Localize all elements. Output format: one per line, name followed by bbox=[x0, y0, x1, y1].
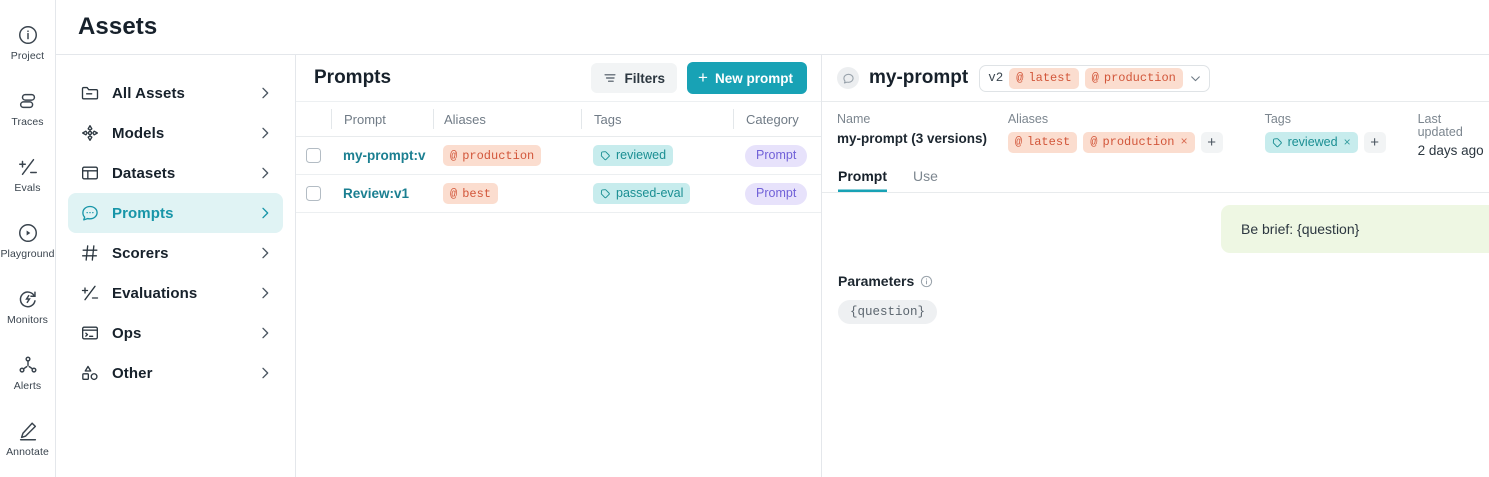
rail-item-traces[interactable]: Traces bbox=[0, 76, 56, 142]
list-toolbar: Prompts Filters + New prompt bbox=[296, 55, 821, 102]
prompt-message-area: Be brief: {question} bbox=[822, 193, 1489, 273]
remove-tag-icon[interactable]: × bbox=[1344, 136, 1351, 148]
filters-label: Filters bbox=[625, 71, 666, 86]
tab-prompt[interactable]: Prompt bbox=[838, 168, 887, 192]
nav-item-label: Ops bbox=[112, 325, 257, 342]
rail-item-monitors[interactable]: Monitors bbox=[0, 274, 56, 340]
alias-chip[interactable]: @ production × bbox=[1083, 132, 1194, 153]
rail-item-label: Annotate bbox=[6, 447, 49, 458]
rail-item-alerts[interactable]: Alerts bbox=[0, 340, 56, 406]
at-symbol-icon: @ bbox=[1015, 136, 1022, 148]
meta-tags-block: Tags reviewed × + bbox=[1265, 113, 1418, 153]
table-row[interactable]: my-prompt:v @ production reviewed bbox=[296, 137, 821, 175]
prompt-avatar-chat-icon bbox=[837, 67, 859, 89]
page-title: Assets bbox=[78, 13, 157, 41]
meta-name-block: Name my-prompt (3 versions) bbox=[837, 113, 1008, 145]
add-tag-button[interactable]: + bbox=[1364, 132, 1386, 153]
plus-minus-icon bbox=[80, 283, 100, 303]
nav-item-all-assets[interactable]: All Assets bbox=[68, 73, 283, 113]
cell-tags: passed-eval bbox=[581, 183, 733, 204]
version-alias-label: latest bbox=[1028, 72, 1071, 84]
cell-tags: reviewed bbox=[581, 145, 733, 166]
at-symbol-icon: @ bbox=[1092, 72, 1099, 84]
at-symbol-icon: @ bbox=[450, 150, 457, 162]
tag-chip-line: reviewed × + bbox=[1265, 132, 1418, 153]
column-header-aliases[interactable]: Aliases bbox=[433, 109, 581, 129]
prompt-message-bubble: Be brief: {question} bbox=[1221, 205, 1489, 253]
model-node-icon bbox=[80, 123, 100, 143]
nav-item-label: Evaluations bbox=[112, 285, 257, 302]
chevron-right-icon bbox=[257, 365, 273, 381]
plus-icon: + bbox=[698, 69, 708, 86]
chevron-right-icon bbox=[257, 245, 273, 261]
version-number: v2 bbox=[988, 71, 1003, 85]
version-alias-chip: @ latest bbox=[1009, 68, 1078, 89]
primary-nav-rail: Project Traces Evals Playground Monitors bbox=[0, 0, 56, 477]
nav-item-label: All Assets bbox=[112, 85, 257, 102]
pencil-highlight-icon bbox=[17, 420, 39, 442]
table-icon bbox=[80, 163, 100, 183]
chevron-right-icon bbox=[257, 325, 273, 341]
detail-header: my-prompt v2 @ latest @ production bbox=[822, 55, 1489, 102]
play-circle-icon bbox=[17, 222, 39, 244]
layers-icon bbox=[17, 90, 39, 112]
meta-label-tags: Tags bbox=[1265, 113, 1418, 126]
remove-alias-icon[interactable]: × bbox=[1180, 136, 1187, 148]
rail-item-label: Project bbox=[11, 51, 44, 62]
parameters-header: Parameters bbox=[838, 273, 1489, 289]
alias-chip[interactable]: @ latest bbox=[1008, 132, 1077, 153]
chevron-right-icon bbox=[257, 165, 273, 181]
nav-item-other[interactable]: Other bbox=[68, 353, 283, 393]
alias-chip-line: @ latest @ production × + bbox=[1008, 132, 1265, 153]
detail-title: my-prompt bbox=[869, 67, 968, 89]
tag-chip-label: passed-eval bbox=[616, 187, 683, 200]
prompts-list-column: Prompts Filters + New prompt Prompt Alia… bbox=[296, 55, 822, 477]
alert-node-icon bbox=[17, 354, 39, 376]
rail-item-label: Monitors bbox=[7, 315, 48, 326]
column-header-tags[interactable]: Tags bbox=[581, 109, 733, 129]
meta-label-aliases: Aliases bbox=[1008, 113, 1265, 126]
rail-item-evals[interactable]: Evals bbox=[0, 142, 56, 208]
column-header-category[interactable]: Category bbox=[733, 109, 822, 129]
tag-chip[interactable]: reviewed bbox=[593, 145, 673, 166]
tag-chip-label: reviewed bbox=[616, 149, 666, 162]
at-symbol-icon: @ bbox=[1090, 136, 1097, 148]
nav-item-ops[interactable]: Ops bbox=[68, 313, 283, 353]
cell-category: Prompt bbox=[733, 183, 822, 205]
tag-chip[interactable]: reviewed × bbox=[1265, 132, 1358, 153]
page-header: Assets bbox=[56, 0, 1489, 55]
chevron-down-icon bbox=[1189, 72, 1202, 85]
folder-minus-icon bbox=[80, 83, 100, 103]
alias-chip-label: production bbox=[462, 150, 534, 162]
list-title: Prompts bbox=[314, 67, 591, 89]
rail-item-label: Traces bbox=[11, 117, 43, 128]
add-alias-button[interactable]: + bbox=[1201, 132, 1223, 153]
plus-minus-icon bbox=[17, 156, 39, 178]
chevron-right-icon bbox=[257, 285, 273, 301]
prompt-detail-panel: my-prompt v2 @ latest @ production bbox=[822, 55, 1489, 477]
filters-button[interactable]: Filters bbox=[591, 63, 678, 93]
hash-icon bbox=[80, 243, 100, 263]
category-chip: Prompt bbox=[745, 145, 807, 167]
alias-chip-label: production bbox=[1102, 136, 1174, 148]
cell-prompt-name: Review:v1 bbox=[331, 185, 433, 203]
filter-lines-icon bbox=[603, 71, 617, 85]
parameters-title: Parameters bbox=[838, 273, 914, 289]
info-icon[interactable] bbox=[920, 275, 933, 288]
rail-item-label: Evals bbox=[14, 183, 40, 194]
chevron-right-icon bbox=[257, 125, 273, 141]
alias-chip[interactable]: @ production bbox=[443, 145, 541, 166]
nav-item-datasets[interactable]: Datasets bbox=[68, 153, 283, 193]
detail-tabs: Prompt Use bbox=[822, 160, 1489, 193]
at-symbol-icon: @ bbox=[1016, 72, 1023, 84]
meta-label-name: Name bbox=[837, 113, 1008, 126]
tag-icon bbox=[600, 188, 611, 199]
alias-chip-label: latest bbox=[1027, 136, 1070, 148]
chat-bubble-icon bbox=[80, 203, 100, 223]
table-header-row: Prompt Aliases Tags Category bbox=[296, 102, 821, 137]
nav-item-label: Prompts bbox=[112, 205, 257, 222]
tag-chip[interactable]: passed-eval bbox=[593, 183, 690, 204]
chevron-right-icon bbox=[257, 85, 273, 101]
tag-chip-label: reviewed bbox=[1288, 136, 1338, 149]
column-header-prompt[interactable]: Prompt bbox=[331, 109, 433, 129]
nav-item-evaluations[interactable]: Evaluations bbox=[68, 273, 283, 313]
rail-item-annotate[interactable]: Annotate bbox=[0, 406, 56, 472]
new-prompt-label: New prompt bbox=[715, 71, 793, 86]
meta-value-last-updated: 2 days ago bbox=[1418, 144, 1489, 158]
chevron-right-icon bbox=[257, 205, 273, 221]
nav-item-models[interactable]: Models bbox=[68, 113, 283, 153]
parameters-section: Parameters {question} bbox=[822, 273, 1489, 324]
meta-value-name: my-prompt (3 versions) bbox=[837, 132, 1008, 146]
info-circle-icon bbox=[17, 24, 39, 46]
app-root: Project Traces Evals Playground Monitors bbox=[0, 0, 1489, 477]
meta-aliases-block: Aliases @ latest @ production × + bbox=[1008, 113, 1265, 153]
cell-prompt-name: my-prompt:v bbox=[331, 147, 433, 165]
rail-item-label: Playground bbox=[0, 249, 54, 260]
meta-label-last-updated: Last updated bbox=[1418, 113, 1489, 138]
rail-item-playground[interactable]: Playground bbox=[0, 208, 56, 274]
nav-item-prompts[interactable]: Prompts bbox=[68, 193, 283, 233]
tab-use[interactable]: Use bbox=[913, 168, 938, 192]
category-chip: Prompt bbox=[745, 183, 807, 205]
row-checkbox[interactable] bbox=[306, 186, 321, 201]
metadata-row: Name my-prompt (3 versions) Aliases @ la… bbox=[822, 102, 1489, 160]
nav-item-scorers[interactable]: Scorers bbox=[68, 233, 283, 273]
version-alias-chip: @ production bbox=[1085, 68, 1183, 89]
rail-item-project[interactable]: Project bbox=[0, 10, 56, 76]
alias-chip[interactable]: @ best bbox=[443, 183, 498, 204]
version-selector[interactable]: v2 @ latest @ production bbox=[979, 65, 1210, 92]
tag-icon bbox=[1272, 137, 1283, 148]
nav-item-label: Models bbox=[112, 125, 257, 142]
asset-nav-column: All Assets Models Datasets bbox=[56, 55, 296, 477]
rail-item-label: Alerts bbox=[14, 381, 41, 392]
shapes-icon bbox=[80, 363, 100, 383]
version-alias-label: production bbox=[1104, 72, 1176, 84]
nav-item-label: Datasets bbox=[112, 165, 257, 182]
refresh-bolt-icon bbox=[17, 288, 39, 310]
row-checkbox[interactable] bbox=[306, 148, 321, 163]
terminal-icon bbox=[80, 323, 100, 343]
tag-icon bbox=[600, 150, 611, 161]
table-row[interactable]: Review:v1 @ best passed-eval bbox=[296, 175, 821, 213]
parameter-chip: {question} bbox=[838, 300, 937, 324]
at-symbol-icon: @ bbox=[450, 188, 457, 200]
row-checkbox-cell bbox=[296, 148, 331, 163]
prompt-link[interactable]: my-prompt:v bbox=[343, 148, 426, 163]
cell-aliases: @ best bbox=[433, 183, 581, 204]
prompt-link[interactable]: Review:v1 bbox=[343, 186, 409, 201]
cell-category: Prompt bbox=[733, 145, 822, 167]
nav-item-label: Scorers bbox=[112, 245, 257, 262]
body-wrapper: All Assets Models Datasets bbox=[56, 55, 1489, 477]
row-checkbox-cell bbox=[296, 186, 331, 201]
nav-item-label: Other bbox=[112, 365, 257, 382]
alias-chip-label: best bbox=[462, 188, 491, 200]
meta-updated-block: Last updated 2 days ago bbox=[1418, 113, 1489, 158]
new-prompt-button[interactable]: + New prompt bbox=[687, 62, 807, 94]
cell-aliases: @ production bbox=[433, 145, 581, 166]
